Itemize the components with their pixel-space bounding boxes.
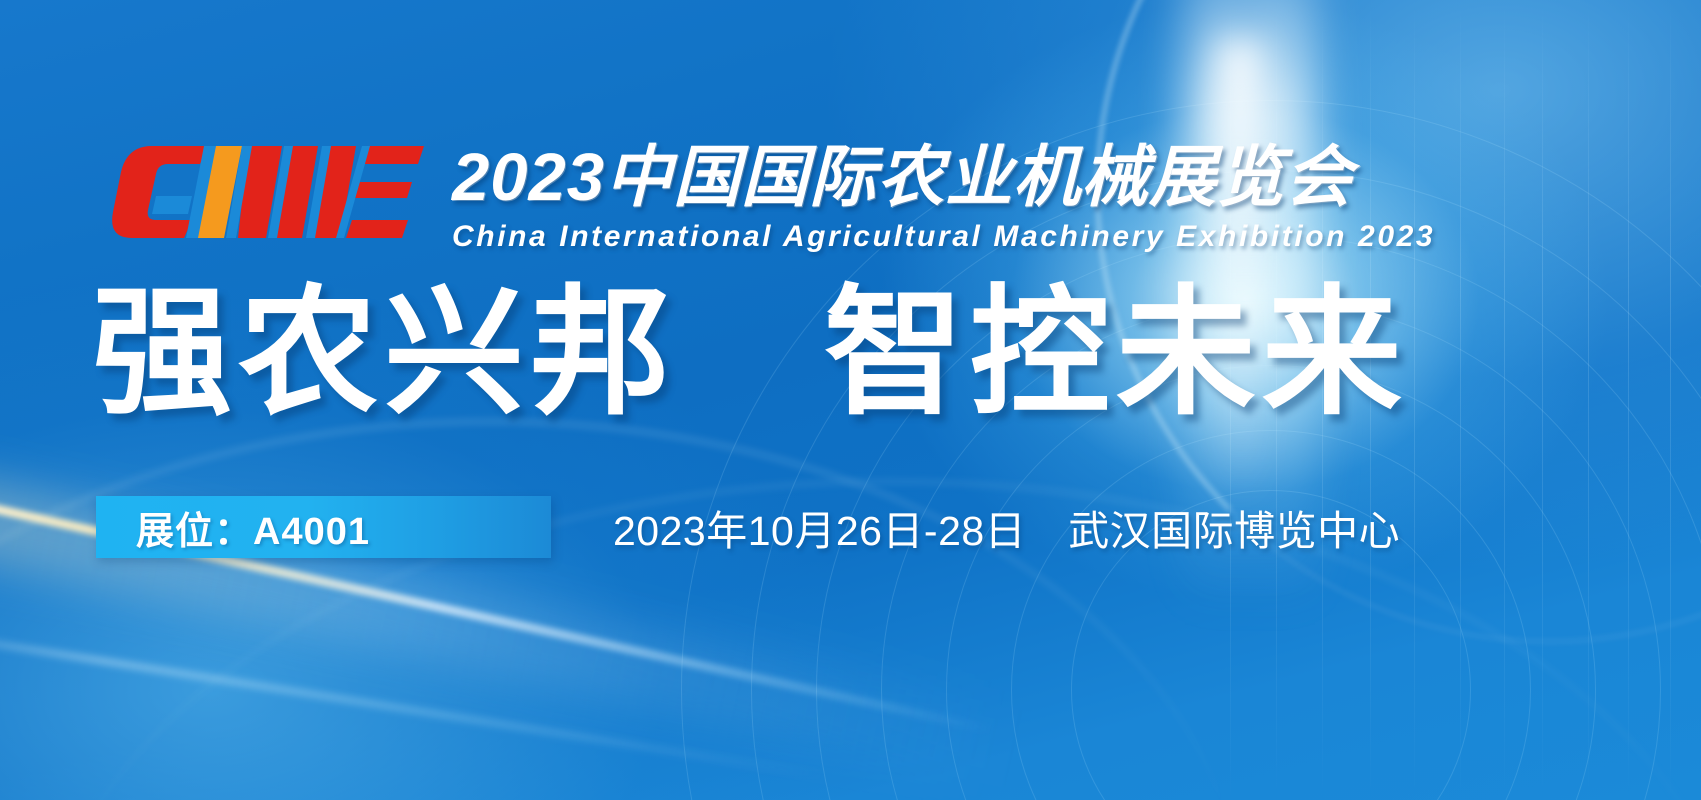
event-meta: 2023年10月26日-28日 武汉国际博览中心: [613, 497, 1400, 557]
exhibition-title-english: China International Agricultural Machine…: [452, 220, 1435, 254]
booth-badge: 展位：A4001: [96, 496, 551, 558]
banner-content: 2023中国国际农业机械展览会 China International Agri…: [0, 0, 1701, 800]
event-venue: 武汉国际博览中心: [1068, 497, 1400, 557]
ciame-logo-icon: [96, 140, 426, 240]
exhibition-title: 2023中国国际农业机械展览会: [452, 142, 1435, 213]
banner-footer: 展位：A4001 2023年10月26日-28日 武汉国际博览中心: [96, 496, 1400, 558]
banner-header: 2023中国国际农业机械展览会 China International Agri…: [96, 140, 1435, 254]
event-date: 2023年10月26日-28日: [613, 497, 1026, 557]
title-block: 2023中国国际农业机械展览会 China International Agri…: [452, 140, 1435, 254]
exhibition-banner: 2023中国国际农业机械展览会 China International Agri…: [0, 0, 1701, 800]
booth-number-label: 展位：A4001: [136, 500, 370, 555]
slogan-part-1: 强农兴邦: [92, 274, 676, 431]
slogan: 强农兴邦 智控未来: [92, 283, 1408, 423]
slogan-part-2: 智控未来: [824, 274, 1408, 431]
